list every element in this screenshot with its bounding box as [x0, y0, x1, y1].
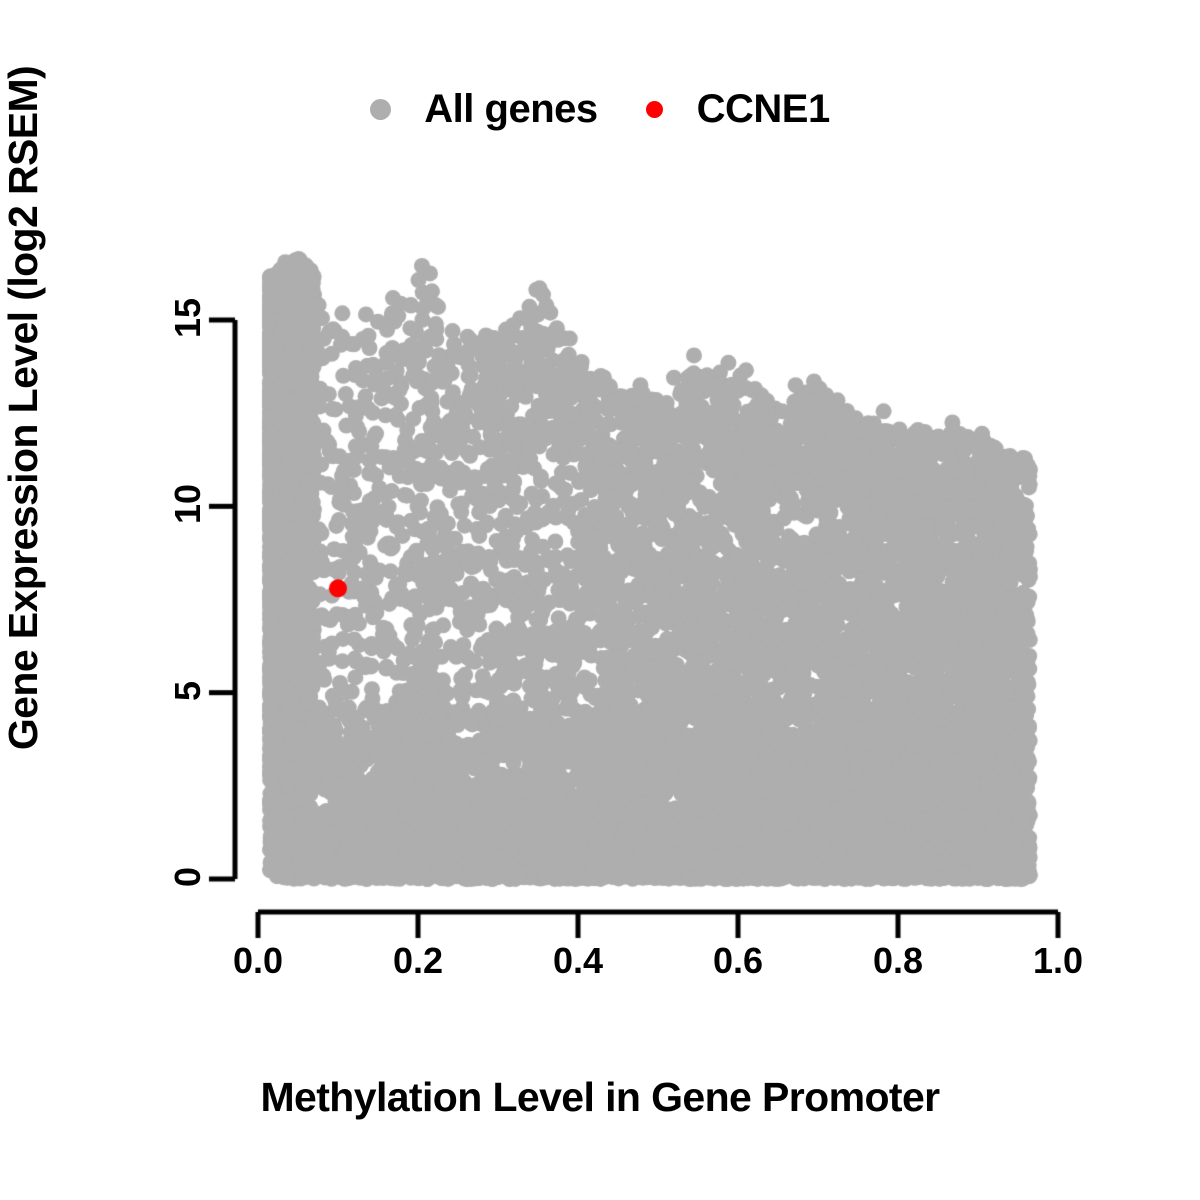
legend-item-ccne1: CCNE1 — [646, 87, 830, 132]
scatter-plot-canvas — [0, 0, 1200, 1200]
x-axis-title: Methylation Level in Gene Promoter — [0, 1074, 1200, 1121]
y-axis-title: Gene Expression Level (log2 RSEM) — [0, 0, 60, 1008]
y-tick-label: 10 — [167, 476, 209, 532]
x-tick-label: 0.0 — [233, 940, 283, 982]
legend-marker-all-genes-icon — [370, 99, 391, 120]
x-tick-label: 0.2 — [393, 940, 443, 982]
y-tick-label: 15 — [167, 290, 209, 346]
y-tick-label: 5 — [167, 663, 209, 719]
x-tick-label: 0.4 — [553, 940, 603, 982]
legend-label-ccne1: CCNE1 — [697, 87, 830, 132]
y-tick-label: 0 — [167, 849, 209, 905]
x-tick-label: 0.6 — [713, 940, 763, 982]
legend-marker-ccne1-icon — [646, 101, 663, 118]
legend-label-all-genes: All genes — [424, 87, 597, 132]
x-tick-label: 1.0 — [1033, 940, 1083, 982]
chart-legend: All genes CCNE1 — [0, 78, 1200, 140]
chart-figure: All genes CCNE1 Methylation Level in Gen… — [0, 0, 1200, 1200]
legend-item-all-genes: All genes — [370, 87, 597, 132]
x-tick-label: 0.8 — [873, 940, 923, 982]
